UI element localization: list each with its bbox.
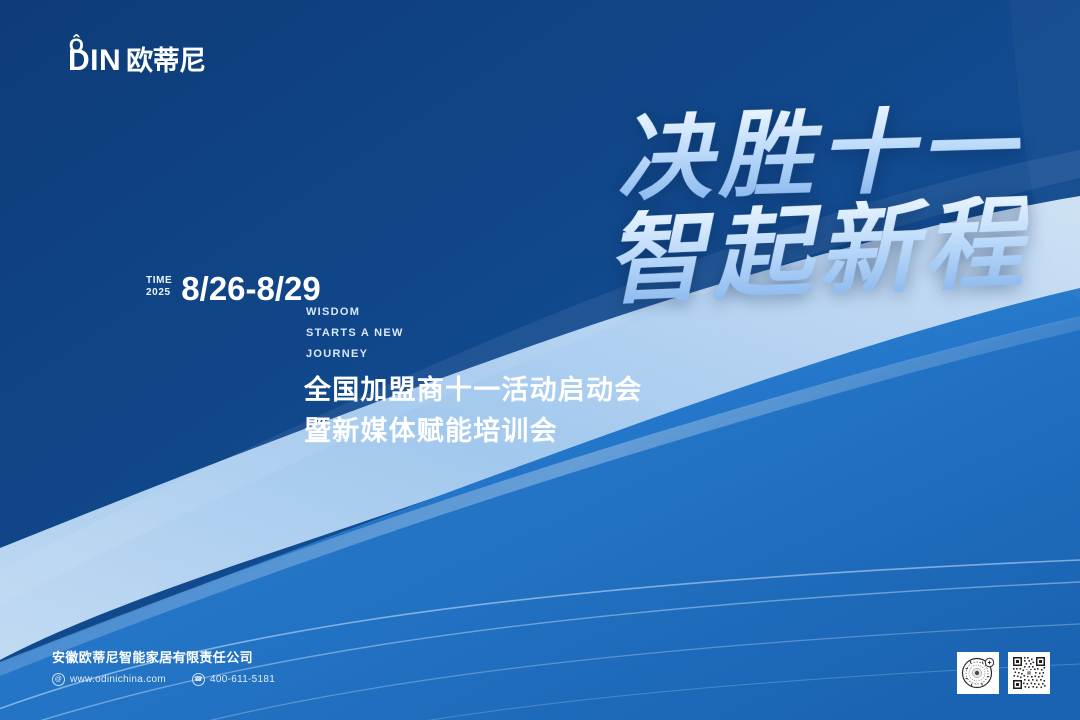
logo-chinese-name: 欧蒂尼: [126, 48, 206, 75]
headline: 决胜十一 智起新程: [601, 102, 1024, 305]
event-subtitle: 全国加盟商十一活动启动会 暨新媒体赋能培训会: [304, 370, 642, 451]
footer: 安徽欧蒂尼智能家居有限责任公司 @ www.odinichina.com ☎ 4…: [52, 648, 275, 687]
company-name: 安徽欧蒂尼智能家居有限责任公司: [52, 648, 275, 668]
code-group: [957, 652, 1050, 694]
footer-contact: @ www.odinichina.com ☎ 400-611-5181: [52, 673, 275, 686]
phone-text: 400-611-5181: [210, 674, 275, 685]
logo-wordmark: Ô DIN: [68, 46, 121, 76]
poster-canvas: Ô DIN 欧蒂尼 决胜十一 智起新程 TIME 2025 8/26-8/29 …: [0, 0, 1080, 720]
tagline-line-3: JOURNEY: [306, 344, 404, 365]
phone-item[interactable]: ☎ 400-611-5181: [192, 673, 275, 686]
brand-logo: Ô DIN 欧蒂尼: [68, 46, 206, 76]
tagline-line-2: STARTS A NEW: [306, 323, 404, 344]
event-date: TIME 2025 8/26-8/29: [146, 272, 321, 305]
tagline-line-1: WISDOM: [306, 302, 404, 323]
qr-code[interactable]: [1008, 652, 1050, 694]
website-item[interactable]: @ www.odinichina.com: [52, 673, 166, 686]
date-range: 8/26-8/29: [181, 272, 320, 305]
english-tagline: WISDOM STARTS A NEW JOURNEY: [306, 302, 404, 365]
subtitle-line-2: 暨新媒体赋能培训会: [304, 411, 642, 452]
date-label-year: 2025: [146, 287, 172, 299]
mini-program-code[interactable]: [957, 652, 999, 694]
phone-icon: ☎: [192, 673, 205, 686]
globe-icon: @: [52, 673, 65, 686]
logo-circumflex-icon: Ô: [69, 37, 84, 56]
date-label: TIME 2025: [146, 275, 172, 305]
website-text: www.odinichina.com: [70, 674, 166, 685]
headline-line-2: 智起新程: [604, 194, 1032, 308]
date-label-time: TIME: [146, 275, 172, 287]
subtitle-line-1: 全国加盟商十一活动启动会: [304, 370, 642, 411]
